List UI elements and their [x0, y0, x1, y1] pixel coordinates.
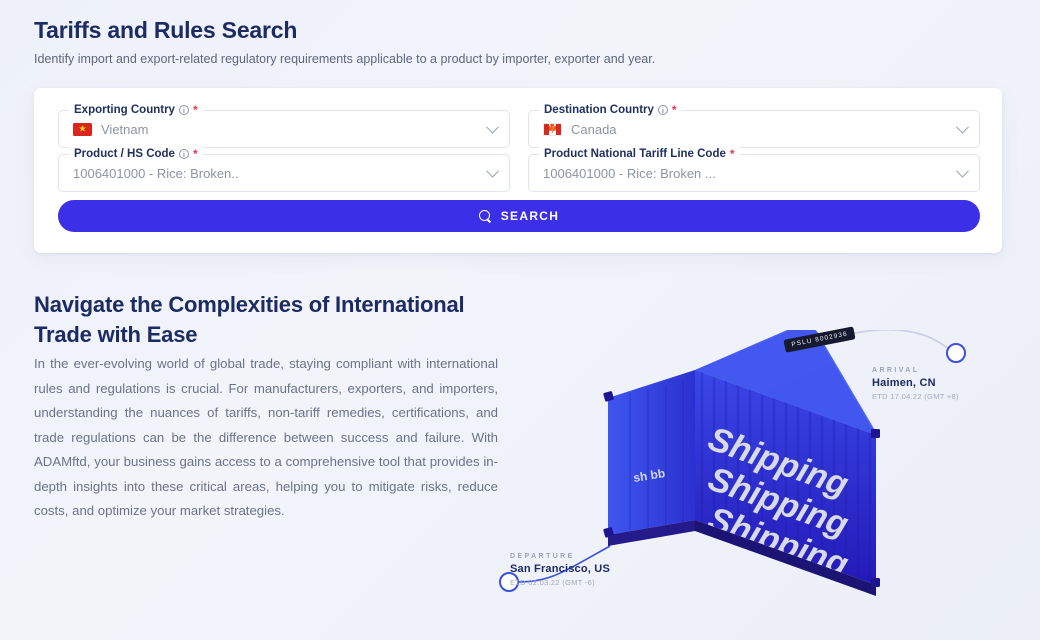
arrival-node [947, 344, 965, 362]
destination-country-value: Canada [571, 122, 617, 137]
arrival-place: Haimen, CN [872, 377, 959, 389]
departure-kicker: DEPARTURE [510, 553, 610, 560]
destination-country-value-wrap: 🍁 Canada [543, 111, 617, 147]
product-national-tariff-line-code-value: 1006401000 - Rice: Broken ... [543, 166, 716, 181]
chevron-down-icon[interactable] [486, 165, 499, 178]
product-national-tariff-line-code-value-wrap: 1006401000 - Rice: Broken ... [543, 155, 716, 191]
exporting-country-value: Vietnam [101, 122, 148, 137]
chevron-down-icon[interactable] [956, 121, 969, 134]
exporting-country-select[interactable]: Exporting Country i * Vietnam [58, 110, 510, 148]
product-hs-code-value: 1006401000 - Rice: Broken.. [73, 166, 239, 181]
info-circle-icon[interactable]: i [658, 105, 668, 115]
arrival-etd: ETD 17.04.22 (GMT +8) [872, 392, 959, 401]
destination-country-select[interactable]: Destination Country i * 🍁 Canada [528, 110, 980, 148]
tariffs-search-page: Tariffs and Rules Search Identify import… [0, 0, 1040, 640]
arrival-kicker: ARRIVAL [872, 367, 959, 374]
page-title: Tariffs and Rules Search [34, 17, 297, 44]
departure-place: San Francisco, US [510, 563, 610, 575]
container-door-face [608, 370, 695, 535]
product-hs-code-select[interactable]: Product / HS Code i * 1006401000 - Rice:… [58, 154, 510, 192]
search-icon [479, 210, 492, 223]
departure-etd: ETD 02.03.22 (GMT -6) [510, 578, 610, 587]
chevron-down-icon[interactable] [486, 121, 499, 134]
required-asterisk: * [730, 149, 735, 159]
canada-flag-icon: 🍁 [543, 123, 562, 136]
search-card: Exporting Country i * Vietnam Destinatio… [34, 88, 1002, 253]
arrival-info: ARRIVAL Haimen, CN ETD 17.04.22 (GMT +8) [872, 367, 959, 401]
chevron-down-icon[interactable] [956, 165, 969, 178]
search-button-label: SEARCH [501, 209, 559, 223]
exporting-country-value-wrap: Vietnam [73, 111, 148, 147]
departure-info: DEPARTURE San Francisco, US ETD 02.03.22… [510, 553, 610, 587]
info-circle-icon[interactable]: i [179, 105, 189, 115]
product-hs-code-value-wrap: 1006401000 - Rice: Broken.. [73, 155, 239, 191]
feature-title: Navigate the Complexities of Internation… [34, 290, 504, 350]
required-asterisk: * [193, 105, 198, 115]
required-asterisk: * [672, 105, 677, 115]
feature-body: In the ever-evolving world of global tra… [34, 352, 498, 524]
product-national-tariff-line-code-select[interactable]: Product National Tariff Line Code * 1006… [528, 154, 980, 192]
vietnam-flag-icon [73, 123, 92, 136]
search-button[interactable]: SEARCH [58, 200, 980, 232]
page-subtitle: Identify import and export-related regul… [34, 52, 655, 66]
